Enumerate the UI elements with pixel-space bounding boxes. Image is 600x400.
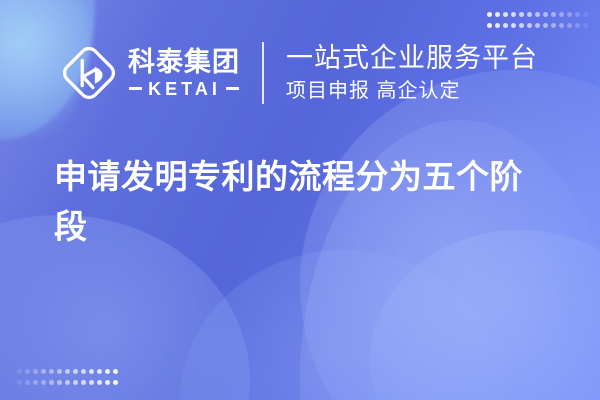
decorative-dot — [17, 380, 22, 385]
decorative-dot — [487, 12, 492, 17]
background-blob-bottom-right — [370, 230, 600, 400]
company-tagline: 一站式企业服务平台 项目申报 高企认定 — [286, 42, 538, 103]
decorative-dot — [567, 23, 572, 28]
decorative-dot — [535, 12, 540, 17]
tagline-primary: 一站式企业服务平台 — [286, 42, 538, 74]
company-logo: 科泰集团 KETAI — [60, 44, 240, 102]
dot-grid-top-right — [487, 12, 591, 34]
decorative-dot — [89, 380, 94, 385]
decorative-dot — [551, 23, 556, 28]
logo-english-row: KETAI — [128, 80, 240, 98]
decorative-dot — [81, 380, 86, 385]
decorative-dot — [543, 23, 548, 28]
headline-title: 申请发明专利的流程分为五个阶段 — [54, 152, 554, 252]
decorative-dot — [559, 23, 564, 28]
logo-company-name-en: KETAI — [148, 80, 221, 98]
decorative-dot — [519, 23, 524, 28]
logo-diamond-icon — [60, 44, 118, 102]
decorative-dot — [551, 12, 556, 17]
decorative-dot — [25, 369, 30, 374]
decorative-dot — [113, 369, 118, 374]
decorative-dot — [511, 23, 516, 28]
decorative-dot — [41, 380, 46, 385]
promotional-banner: 科泰集团 KETAI 一站式企业服务平台 项目申报 高企认定 申请发明专利的流程… — [0, 0, 600, 400]
logo-wordmark: 科泰集团 KETAI — [128, 48, 240, 97]
decorative-dot — [41, 369, 46, 374]
decorative-dot — [113, 380, 118, 385]
background-blob-bottom-middle — [180, 250, 510, 400]
decorative-dot — [567, 12, 572, 17]
header-divider — [262, 42, 264, 104]
logo-dash-left — [129, 87, 142, 90]
decorative-dot — [583, 12, 588, 17]
decorative-dot — [503, 12, 508, 17]
banner-header: 科泰集团 KETAI 一站式企业服务平台 项目申报 高企认定 — [60, 42, 538, 104]
decorative-dot — [49, 380, 54, 385]
decorative-dot — [535, 23, 540, 28]
decorative-dot — [17, 369, 22, 374]
decorative-dot — [49, 369, 54, 374]
decorative-dot — [97, 380, 102, 385]
decorative-dot — [511, 12, 516, 17]
decorative-dot — [583, 23, 588, 28]
decorative-dot — [487, 23, 492, 28]
decorative-dot — [527, 12, 532, 17]
decorative-dot — [33, 369, 38, 374]
decorative-dot — [97, 369, 102, 374]
decorative-dot — [105, 369, 110, 374]
decorative-dot — [57, 369, 62, 374]
decorative-dot — [495, 12, 500, 17]
decorative-dot — [73, 380, 78, 385]
logo-dash-right — [226, 87, 239, 90]
decorative-dot — [33, 380, 38, 385]
decorative-dot — [543, 12, 548, 17]
decorative-dot — [575, 12, 580, 17]
decorative-dot — [575, 23, 580, 28]
decorative-dot — [495, 23, 500, 28]
decorative-dot — [25, 380, 30, 385]
decorative-dot — [73, 369, 78, 374]
decorative-dot — [527, 23, 532, 28]
decorative-dot — [65, 369, 70, 374]
decorative-dot — [57, 380, 62, 385]
decorative-dot — [105, 380, 110, 385]
tagline-secondary: 项目申报 高企认定 — [286, 79, 538, 104]
decorative-dot — [65, 380, 70, 385]
decorative-dot — [503, 23, 508, 28]
decorative-dot — [81, 369, 86, 374]
dot-grid-bottom-left — [17, 369, 121, 391]
decorative-dot — [519, 12, 524, 17]
logo-company-name-cn: 科泰集团 — [128, 48, 240, 76]
decorative-dot — [89, 369, 94, 374]
decorative-dot — [559, 12, 564, 17]
